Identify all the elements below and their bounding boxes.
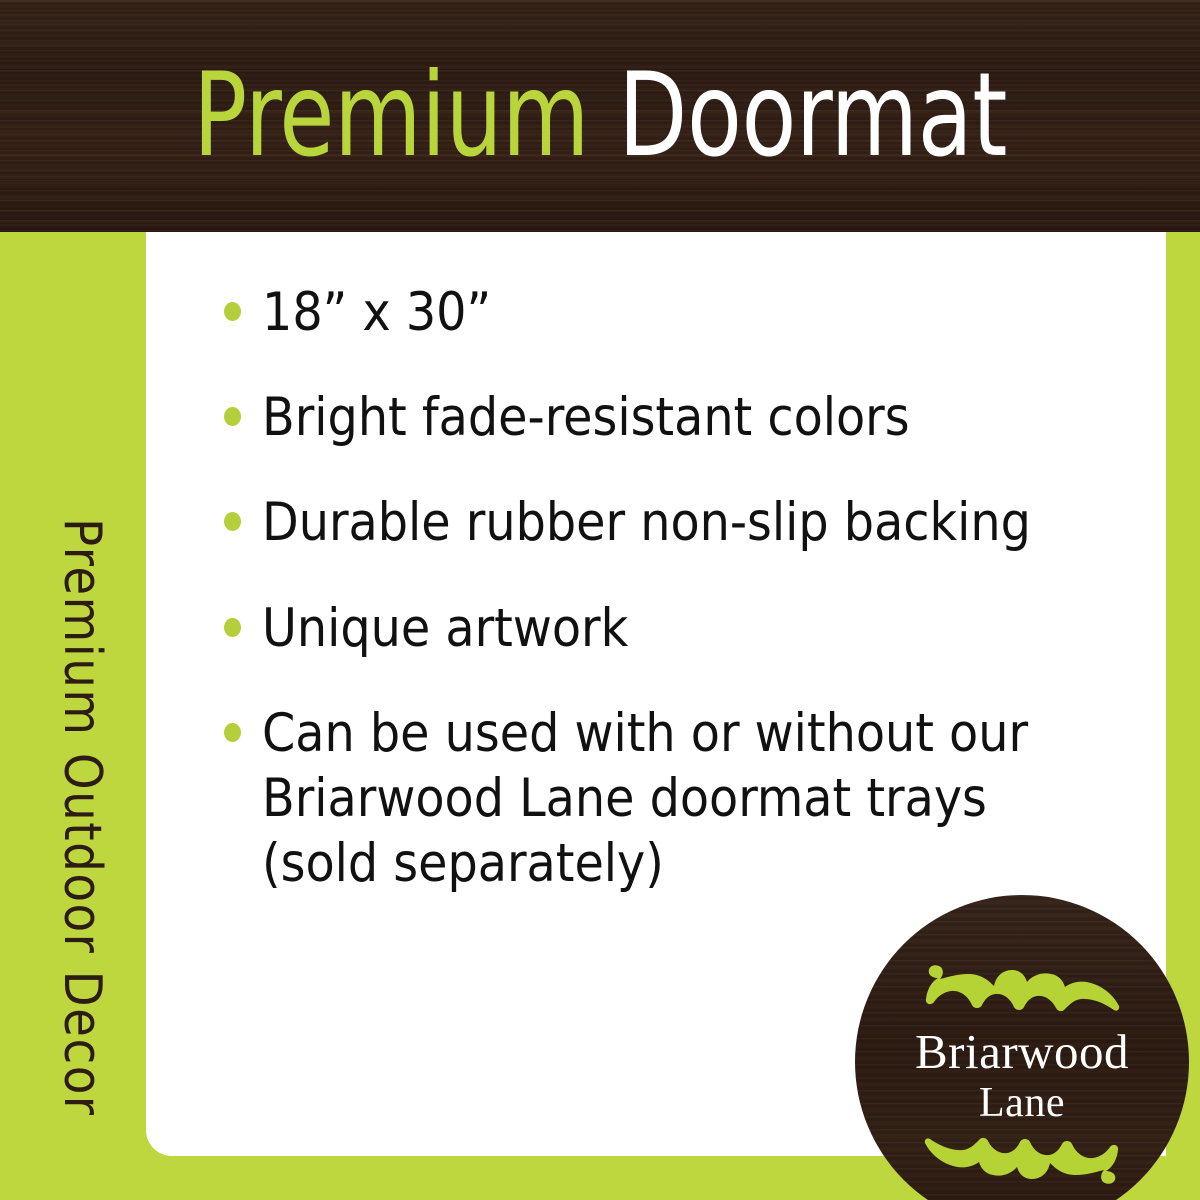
feature-text: 18” x 30” [262,280,491,345]
feature-text: Can be used with or without our Briarwoo… [262,701,1028,897]
page-title: Premium Doormat [84,0,1116,232]
title-accent-word: Premium [193,58,589,174]
feature-list: 18” x 30” Bright fade-resistant colors D… [224,280,1154,896]
bullet-dot-icon [224,512,241,531]
product-infographic: Premium Doormat Premium Outdoor Decor 18… [0,0,1200,1200]
bullet-dot-icon [224,302,241,321]
list-item: Can be used with or without our Briarwoo… [224,701,1154,897]
feature-text: Durable rubber non-slip backing [262,490,1031,555]
list-item: Unique artwork [224,596,1154,661]
list-item: Durable rubber non-slip backing [224,490,1154,555]
list-item: Bright fade-resistant colors [224,385,1154,450]
sidebar-green-band: Premium Outdoor Decor [0,232,146,1200]
bullet-dot-icon [224,723,241,742]
title-plain-word: Doormat [618,58,1007,174]
feature-text: Bright fade-resistant colors [262,385,910,450]
feature-text: Unique artwork [262,596,628,661]
bullet-dot-icon [224,618,241,637]
sidebar-label-text: Premium Outdoor Decor [56,518,108,1117]
bullet-dot-icon [224,407,241,426]
header-banner: Premium Doormat [0,0,1200,232]
content-panel: 18” x 30” Bright fade-resistant colors D… [146,232,1166,1156]
list-item: 18” x 30” [224,280,1154,345]
